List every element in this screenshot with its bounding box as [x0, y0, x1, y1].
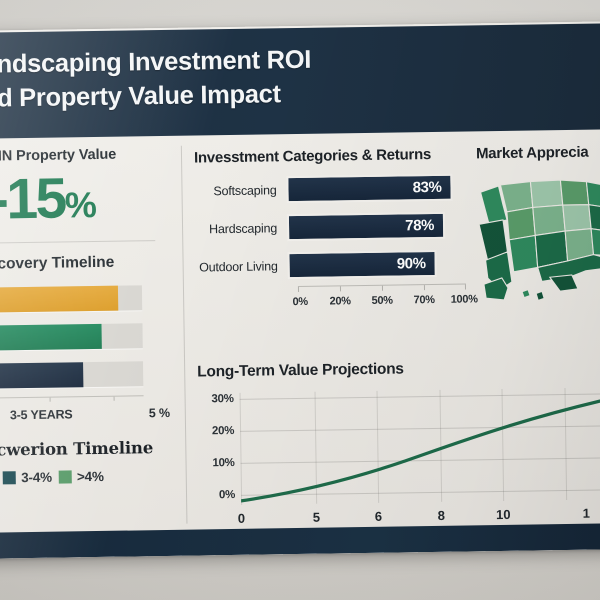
appreciation-timeline-heading: Apcwerion Timeline: [0, 438, 180, 460]
category-value-1: 78%: [405, 217, 434, 234]
recovery-bar-fill-amber: [0, 286, 118, 313]
category-axis-line: [298, 284, 466, 292]
recovery-timeline-bars: [0, 285, 179, 389]
stat-number: 5-15: [0, 166, 65, 232]
appreciation-legend: -3% 3-4% >4%: [0, 468, 181, 486]
projection-ytick-20: 20%: [198, 425, 234, 438]
category-xtick-2: 50%: [372, 295, 393, 307]
category-xtick-0: 0%: [292, 296, 307, 308]
poster-header: ndscaping Investment ROI d Property Valu…: [0, 23, 600, 138]
investment-categories-panel: Invesstment Categories & Returns Softsca…: [194, 145, 472, 311]
market-appreciation-heading: Market Apprecia: [476, 143, 600, 162]
projection-xtick-4: 10: [496, 507, 511, 522]
category-xtick-1: 20%: [330, 295, 351, 307]
poster-footer-band: [0, 523, 600, 559]
projection-xtick-3: 8: [438, 508, 445, 523]
recovery-bar-axis: [0, 395, 144, 404]
legend-item-1: 3-4%: [3, 470, 52, 486]
projection-grid: [240, 387, 600, 505]
column-divider: [181, 146, 188, 524]
category-label-0: Softscaping: [194, 183, 286, 198]
left-stats-column: se IN Property Value 5-15% Recovery Time…: [0, 146, 181, 486]
category-bar-1: 78%: [287, 212, 445, 241]
stat-percent-sign: %: [65, 184, 97, 225]
recovery-bar-label-2: 5 %: [149, 406, 170, 420]
recovery-bar-labels: YEARS 3-5 YEARS 5 %: [0, 406, 180, 423]
recovery-bar-track-2: [0, 323, 143, 351]
long-term-projection-heading: Long-Term Value Projections: [197, 357, 600, 381]
projection-xtick-0: 0: [238, 511, 245, 526]
category-value-2: 90%: [397, 255, 426, 272]
recovery-bar-track-3: [0, 361, 143, 389]
category-label-1: Hardscaping: [195, 221, 287, 236]
category-xtick-3: 70%: [414, 294, 435, 306]
recovery-bar-fill-green: [0, 324, 102, 351]
projection-line-series: [240, 387, 600, 505]
legend-label-1: 3-4%: [21, 470, 52, 485]
infographic-poster: ndscaping Investment ROI d Property Valu…: [0, 21, 600, 559]
projection-xtick-5: 1: [583, 506, 590, 521]
category-bar-0: 83%: [286, 174, 452, 203]
category-label-2: Outdoor Living: [196, 259, 288, 274]
projection-ytick-30: 30%: [198, 393, 234, 406]
category-row-outdoor-living: Outdoor Living 90%: [195, 249, 471, 280]
us-choropleth-map-icon: [476, 172, 600, 302]
category-row-hardscaping: Hardscaping 78%: [195, 211, 471, 242]
left-section-divider: [0, 240, 155, 244]
property-value-stat-value: 5-15%: [0, 168, 177, 229]
property-value-stat-label: se IN Property Value: [0, 146, 176, 165]
recovery-bar-fill-navy: [0, 362, 84, 389]
legend-swatch-dark-icon: [3, 471, 16, 484]
legend-label-2: >4%: [77, 469, 104, 484]
category-xtick-4: 100%: [451, 293, 478, 305]
projection-ytick-0: 0%: [199, 489, 235, 502]
projection-xtick-2: 6: [375, 509, 382, 524]
projection-ytick-10: 10%: [198, 457, 234, 470]
investment-categories-heading: Invesstment Categories & Returns: [194, 145, 470, 166]
category-axis-labels: 0% 20% 50% 70% 100%: [298, 294, 466, 310]
legend-swatch-mid-icon: [59, 471, 72, 484]
legend-item-2: >4%: [59, 469, 104, 485]
category-value-0: 83%: [413, 179, 442, 196]
recovery-timeline-heading: Recovery Timeline: [0, 253, 178, 274]
category-bar-2: 90%: [287, 250, 436, 279]
category-row-softscaping: Softscaping 83%: [194, 173, 470, 204]
projection-plot: 30% 20% 10% 0%: [198, 387, 600, 505]
recovery-bar-track-1: [0, 285, 142, 313]
recovery-bar-label-1: 3-5 YEARS: [10, 407, 73, 422]
market-appreciation-panel: Market Apprecia: [476, 143, 600, 302]
projection-xtick-1: 5: [313, 510, 320, 525]
long-term-projection-panel: Long-Term Value Projections 30% 20% 10% …: [197, 357, 600, 505]
photo-backdrop: ndscaping Investment ROI d Property Valu…: [0, 0, 600, 600]
